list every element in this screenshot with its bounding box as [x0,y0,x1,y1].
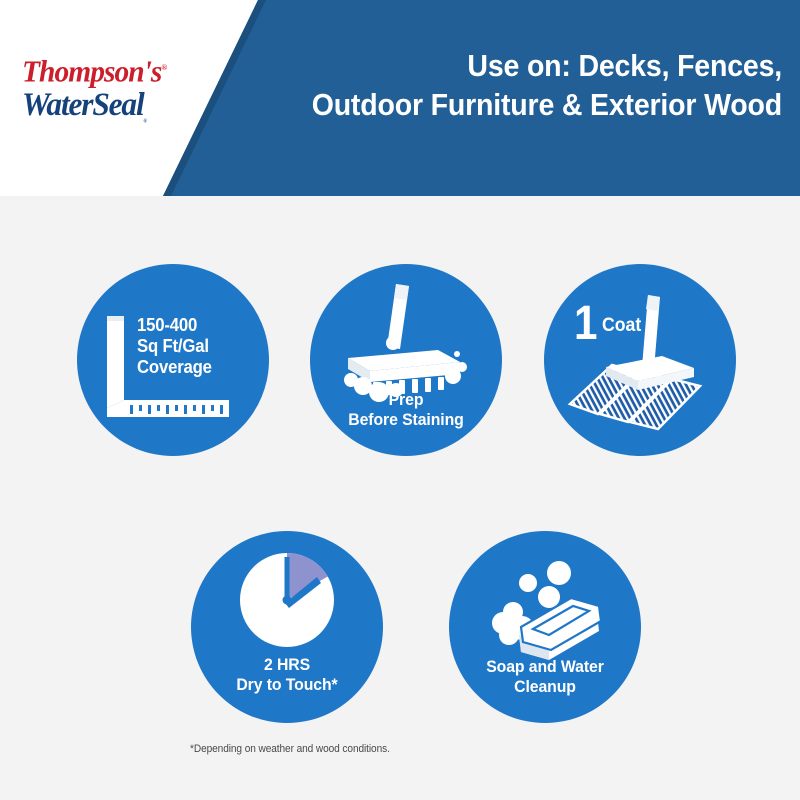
brand-logo: Thompson's® WaterSeal® [22,52,212,122]
feature-circle-cleanup: Soap and Water Cleanup [449,531,641,723]
prep-label: Prep Before Staining [317,390,496,430]
feature-circle-dry-time: 2 HRS Dry to Touch* [191,531,383,723]
page-title: Use on: Decks, Fences, Outdoor Furniture… [267,46,782,124]
coat-number: 1 [574,300,597,348]
header-banner: Thompson's® WaterSeal® Use on: Decks, Fe… [0,0,800,196]
feature-circle-coverage: 150-400 Sq Ft/Gal Coverage [77,264,269,456]
stain-pad-applicator-deck-icon [544,264,736,456]
cleanup-label: Soap and Water Cleanup [456,657,635,697]
logo-thompsons-word: Thompson's [22,53,161,88]
dry-time-label: 2 HRS Dry to Touch* [198,655,377,695]
coat-word: Coat [602,316,641,335]
registered-mark-icon: ® [161,63,167,72]
footnote-text: *Depending on weather and wood condition… [190,742,390,756]
feature-circle-one-coat: 1 Coat [544,264,736,456]
logo-thompsons-text: Thompson's® [22,52,203,87]
infographic-page: Thompson's® WaterSeal® Use on: Decks, Fe… [0,0,800,800]
logo-waterseal-word: WaterSeal [22,87,144,123]
coverage-inner-text: 150-400 Sq Ft/Gal Coverage [137,315,250,378]
logo-waterseal-text: WaterSeal® [22,88,203,140]
feature-circle-prep: Prep Before Staining [310,264,502,456]
trademark-mark-icon: ® [144,120,148,125]
